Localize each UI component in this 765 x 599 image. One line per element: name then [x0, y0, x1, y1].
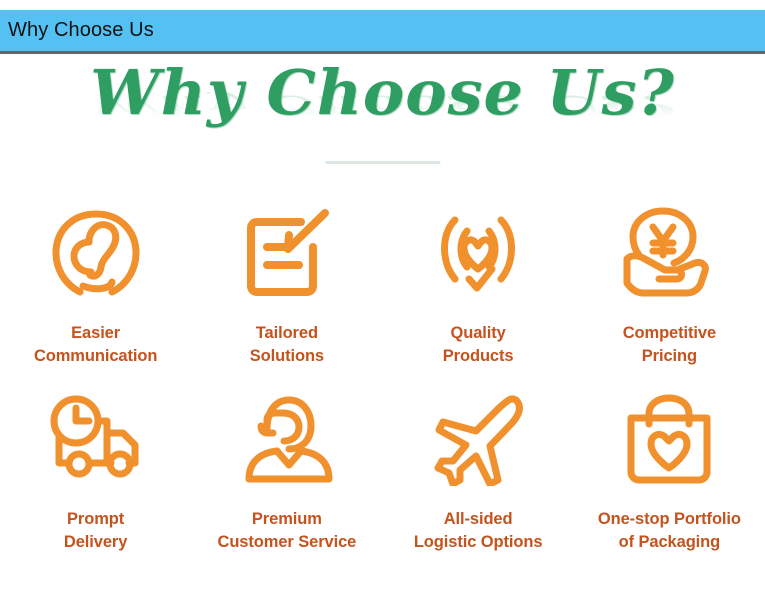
hero-section: Why Choose Us? Why Choose Us? [0, 62, 765, 172]
feature-label: Premium Customer Service [218, 508, 357, 555]
feature-item-easier-communication[interactable]: Easier Communication [0, 196, 191, 382]
feature-grid: Easier Communication Tailored Solutions [0, 196, 765, 568]
document-pencil-icon [235, 202, 339, 306]
title-divider [325, 161, 440, 164]
feature-item-all-sided-logistic-options[interactable]: All-sided Logistic Options [383, 382, 574, 568]
hand-coin-yen-icon [617, 202, 721, 306]
page-title: Why Choose Us? [90, 62, 675, 124]
feature-label: Quality Products [443, 322, 514, 369]
shopping-bag-heart-icon [617, 388, 721, 492]
feature-item-quality-products[interactable]: Quality Products [383, 196, 574, 382]
window-banner: Why Choose Us [0, 10, 765, 55]
feature-label: Prompt Delivery [64, 508, 127, 555]
feature-label: Easier Communication [34, 322, 157, 369]
truck-clock-icon [44, 388, 148, 492]
feature-item-prompt-delivery[interactable]: Prompt Delivery [0, 382, 191, 568]
feature-item-tailored-solutions[interactable]: Tailored Solutions [191, 196, 382, 382]
feature-item-premium-customer-service[interactable]: Premium Customer Service [191, 382, 382, 568]
ear-listening-icon [44, 202, 148, 306]
airplane-icon [426, 388, 530, 492]
feature-item-competitive-pricing[interactable]: Competitive Pricing [574, 196, 765, 382]
heart-signal-check-icon [426, 202, 530, 306]
window-title: Why Choose Us [0, 19, 154, 42]
feature-item-one-stop-portfolio-of-packaging[interactable]: One-stop Portfolio of Packaging [574, 382, 765, 568]
feature-label: One-stop Portfolio of Packaging [598, 508, 741, 555]
feature-label: Competitive Pricing [623, 322, 716, 369]
banner-bar: Why Choose Us [0, 10, 765, 54]
feature-label: Tailored Solutions [250, 322, 324, 369]
feature-label: All-sided Logistic Options [414, 508, 543, 555]
headset-agent-icon [235, 388, 339, 492]
